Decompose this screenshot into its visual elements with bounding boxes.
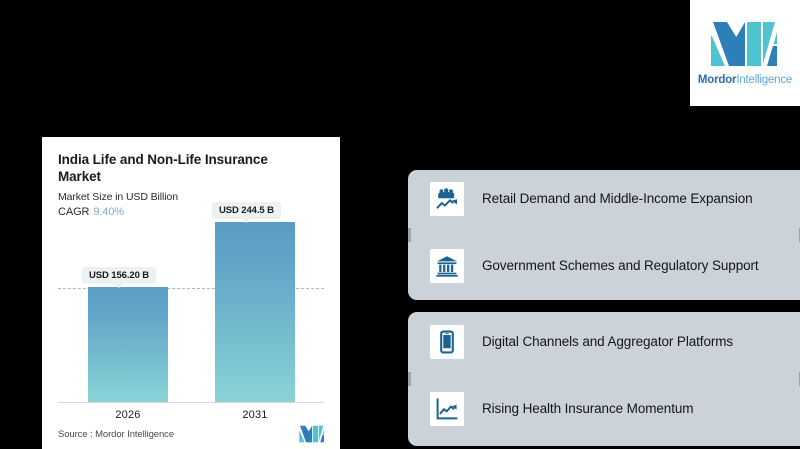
bar-value-badge-2026: USD 156.20 B — [82, 267, 156, 284]
x-tick-label-2031: 2031 — [215, 409, 295, 421]
driver-item-retail-demand[interactable]: Retail Demand and Middle-Income Expansio… — [430, 182, 800, 216]
mordor-intelligence-logo-small-icon — [298, 425, 326, 443]
driver-label: Government Schemes and Regulatory Suppor… — [482, 257, 759, 275]
bar-2031[interactable] — [215, 222, 295, 402]
chart-footer: Source : Mordor Intelligence — [58, 425, 326, 443]
bar-group-2031 — [215, 222, 295, 402]
market-drivers-group-1: Retail Demand and Middle-Income Expansio… — [408, 170, 800, 300]
market-drivers-group-2: Digital Channels and Aggregator Platform… — [408, 312, 800, 446]
mordor-intelligence-logo-icon — [709, 20, 781, 68]
driver-label: Digital Channels and Aggregator Platform… — [482, 333, 733, 351]
market-size-chart-card: India Life and Non-Life Insurance Market… — [42, 137, 340, 449]
government-bank-building-icon — [430, 249, 464, 283]
bar-value-badge-2031: USD 244.5 B — [212, 202, 281, 219]
brand-wordmark: MordorIntelligence — [698, 74, 792, 86]
source-label: Source : Mordor Intelligence — [58, 429, 174, 440]
x-tick-label-2026: 2026 — [88, 409, 168, 421]
driver-item-government-schemes[interactable]: Government Schemes and Regulatory Suppor… — [430, 249, 800, 283]
chart-cagr: CAGR9.40% — [58, 206, 324, 218]
bar-plot-area: USD 156.20 B USD 244.5 B — [58, 223, 324, 403]
bar-2026[interactable] — [88, 287, 168, 402]
brand-logo-card: MordorIntelligence — [690, 0, 800, 106]
driver-item-digital-channels[interactable]: Digital Channels and Aggregator Platform… — [430, 325, 800, 359]
chart-title: India Life and Non-Life Insurance Market — [58, 151, 298, 186]
people-growth-chart-icon — [430, 182, 464, 216]
chart-subtitle: Market Size in USD Billion — [58, 191, 324, 203]
mobile-phone-icon — [430, 325, 464, 359]
line-chart-up-icon — [430, 392, 464, 426]
driver-label: Rising Health Insurance Momentum — [482, 400, 693, 418]
cagr-label: CAGR — [58, 206, 89, 218]
cagr-value: 9.40% — [93, 206, 124, 218]
group-edge-tick-left — [408, 228, 411, 242]
driver-item-health-insurance[interactable]: Rising Health Insurance Momentum — [430, 392, 800, 426]
bar-group-2026 — [88, 287, 168, 402]
brand-name-light: Intelligence — [736, 74, 792, 86]
group-edge-tick-left — [408, 372, 411, 386]
brand-name-bold: Mordor — [698, 74, 736, 86]
x-axis-line — [58, 402, 324, 403]
driver-label: Retail Demand and Middle-Income Expansio… — [482, 190, 753, 208]
